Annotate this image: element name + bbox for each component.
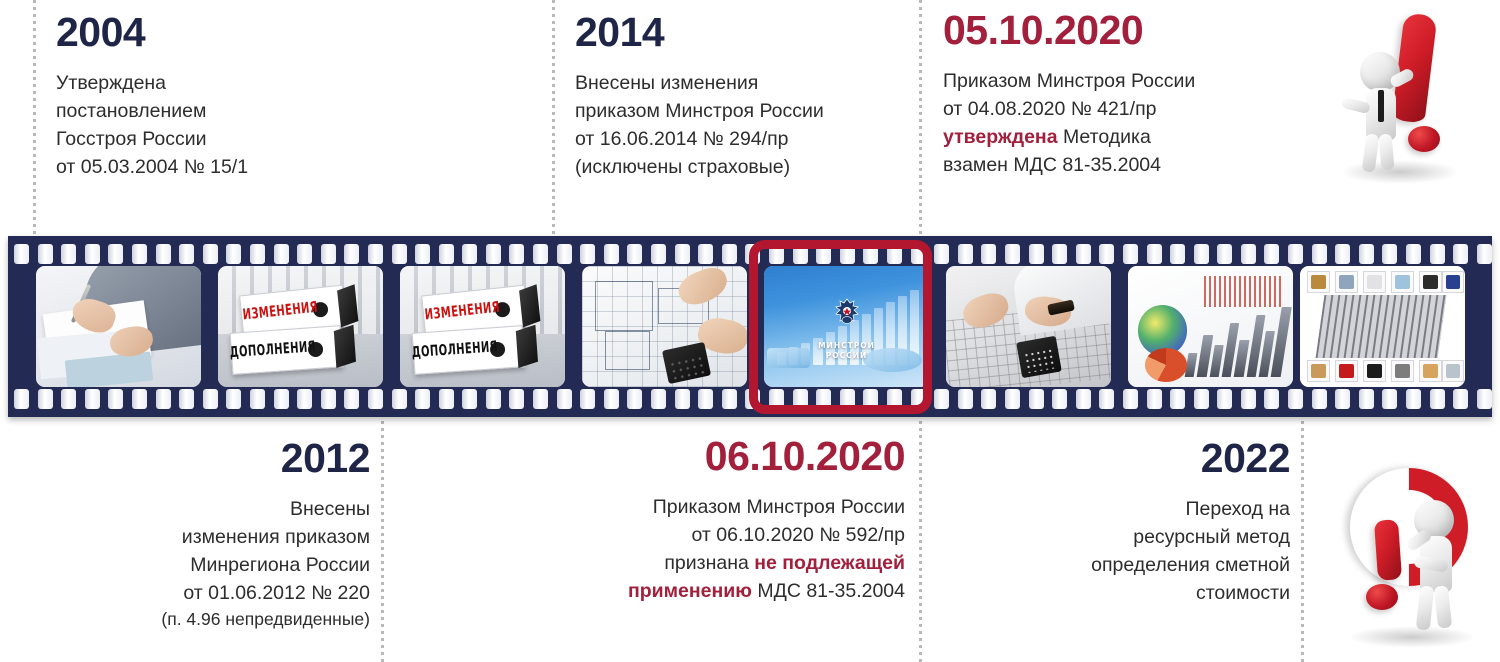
sprocket-hole-icon [863,244,878,264]
sprocket-hole-icon [887,244,902,264]
sprocket-hole-icon [226,389,241,409]
sprocket-hole-icon [1029,244,1044,264]
sprocket-hole-icon [1005,389,1020,409]
year-label-2004: 2004 [56,12,526,53]
entry-body-06-10-2020: Приказом Минстроя России от 06.10.2020 №… [555,493,905,605]
sprocket-hole-icon [1147,389,1162,409]
highlight-primeneniyu: применению [628,580,752,602]
question-hook-icon [1326,444,1493,611]
timeline-entry-06-10-2020: 06.10.2020 Приказом Минстроя России от 0… [555,436,905,605]
date-label-05-10-2020: 05.10.2020 [943,10,1293,51]
sprocket-hole-icon [1052,244,1067,264]
filmstrip-frame-analytics[interactable] [1128,266,1293,387]
sprocket-hole-icon [604,244,619,264]
filmstrip-frame-binders-1[interactable]: ИЗМЕНЕНИЯ ДОПОЛНЕНИЯ [218,266,383,387]
entry-line: (исключены страховые) [575,153,910,181]
sprocket-hole-icon [321,244,336,264]
sprocket-hole-icon [1123,244,1138,264]
sprocket-hole-icon [1029,389,1044,409]
sprocket-hole-icon [203,389,218,409]
timeline-infographic: 2004 Утверждена постановлением Госстроя … [0,0,1500,662]
figure-leg-right [1434,585,1452,628]
year-label-2022: 2022 [1000,438,1290,479]
sprocket-hole-icon [38,244,53,264]
entry-line: стоимости [1000,579,1290,607]
sprocket-hole-icon [392,244,407,264]
sprocket-hole-icon [1241,244,1256,264]
sprocket-hole-icon [911,244,926,264]
entry-line: постановлением [56,97,526,125]
entry-body-2014: Внесены изменения приказом Минстроя Росс… [575,69,910,181]
figure-question [1330,462,1500,658]
sprocket-hole-icon [250,389,265,409]
filmstrip-frame-estimator[interactable] [946,266,1111,387]
photo-binders: ИЗМЕНЕНИЯ ДОПОЛНЕНИЯ [400,266,565,387]
sprocket-hole-icon [1430,389,1445,409]
question-dot-icon [1366,584,1398,610]
date-label-06-10-2020: 06.10.2020 [555,436,905,477]
sprocket-hole-icon [651,244,666,264]
sprocket-hole-icon [981,389,996,409]
entry-body-2012: Внесены изменения приказом Минрегиона Ро… [40,495,370,633]
entry-line: изменения приказом [40,523,370,551]
sprocket-hole-icon [344,244,359,264]
timeline-entry-2012: 2012 Внесены изменения приказом Минрегио… [40,438,370,633]
divider-top-mid [552,0,555,236]
sprocket-hole-icon [38,389,53,409]
entry-line: от 01.06.2012 № 220 [40,579,370,607]
entry-line: Внесены [40,495,370,523]
question-stem-icon [1374,519,1402,581]
sprocket-hole-icon [108,244,123,264]
sprocket-hole-icon [1123,389,1138,409]
sprocket-hole-icon [533,244,548,264]
sprocket-hole-icon [61,389,76,409]
sprocket-hole-icon [675,244,690,264]
sprocket-hole-icon [61,244,76,264]
binder-label-changes: ИЗМЕНЕНИЯ [424,300,501,324]
sprocket-hole-icon [486,244,501,264]
sprocket-hole-icon [1430,244,1445,264]
sprocket-hole-icon [627,244,642,264]
divider-top-right [919,0,922,236]
sprocket-hole-icon [1335,389,1350,409]
sprocket-hole-icon [1382,244,1397,264]
entry-line: приказом Минстроя России [575,97,910,125]
sprocket-hole-icon [1147,244,1162,264]
sprocket-hole-icon [1005,244,1020,264]
sprocket-hole-icon [1217,244,1232,264]
sprocket-hole-icon [344,389,359,409]
binder-bottom: ДОПОЛНЕНИЯ [230,325,344,375]
sprocket-hole-icon [1477,244,1492,264]
sprocket-hole-icon [156,389,171,409]
sprocket-hole-icon [462,244,477,264]
divider-top-left [33,0,36,236]
figure-leg-left [1416,585,1435,630]
entry-line: от 05.03.2004 № 15/1 [56,153,526,181]
timeline-entry-2022: 2022 Переход на ресурсный метод определе… [1000,438,1290,607]
sprocket-hole-icon [745,389,760,409]
sprocket-hole-icon [85,389,100,409]
sprocket-hole-icon [1382,389,1397,409]
sprocket-hole-icon [651,389,666,409]
sprocket-hole-icon [1312,244,1327,264]
figure-shadow [1348,626,1476,648]
sprocket-hole-icon [580,244,595,264]
sprocket-hole-icon [1241,389,1256,409]
sprocket-hole-icon [958,244,973,264]
sprocket-hole-icon [769,244,784,264]
sprocket-hole-icon [1076,244,1091,264]
photo-blueprints [582,266,747,387]
divider-bottom-mid [919,421,922,662]
entry-line: Минрегиона России [40,551,370,579]
filmstrip-band: ИЗМЕНЕНИЯ ДОПОЛНЕНИЯ ИЗМЕНЕНИЯ [8,236,1492,417]
entry-body-2004: Утверждена постановлением Госстроя Росси… [56,69,526,181]
year-label-2012: 2012 [40,438,370,479]
sprocket-hole-icon [132,389,147,409]
sprocket-hole-icon [1477,389,1492,409]
entry-line: утверждена Методика [943,123,1293,151]
binder-bottom: ДОПОЛНЕНИЯ [412,325,526,375]
sprocket-hole-icon [675,389,690,409]
entry-body-05-10-2020: Приказом Минстроя России от 04.08.2020 №… [943,67,1293,179]
sprocket-hole-icon [1406,389,1421,409]
sprocket-hole-icon [274,244,289,264]
timeline-entry-2014: 2014 Внесены изменения приказом Минстроя… [575,12,910,181]
sprocket-hole-icon [1076,389,1091,409]
sprocket-hole-icon [533,389,548,409]
sprocket-hole-icon [580,389,595,409]
sprocket-hole-icon [769,389,784,409]
sprocket-hole-icon [1406,244,1421,264]
sprocket-hole-icon [132,244,147,264]
entry-line: Госстроя России [56,125,526,153]
entry-line: от 16.06.2014 № 294/пр [575,125,910,153]
emblem-caption-line1: МИНСТРОЙ [764,341,929,351]
sprocket-hole-icon [1170,244,1185,264]
entry-body-2022: Переход на ресурсный метод определения с… [1000,495,1290,607]
filmstrip-frame-blueprints[interactable] [582,266,747,387]
exclamation-dot-icon [1408,126,1440,152]
entry-line: признана не подлежащей [555,549,905,577]
sprocket-hole-icon [274,389,289,409]
sprocket-hole-icon [392,389,407,409]
sprocket-hole-icon [14,389,29,409]
entry-line-note: (п. 4.96 непредвиденные) [40,607,370,632]
sprocket-hole-icon [911,389,926,409]
sprocket-hole-icon [179,244,194,264]
sprocket-hole-icon [439,389,454,409]
emblem-caption: МИНСТРОЙ РОССИИ [764,341,929,361]
sprocket-hole-icon [415,389,430,409]
year-label-2014: 2014 [575,12,910,53]
timeline-entry-2004: 2004 Утверждена постановлением Госстроя … [56,12,526,181]
sprocket-hole-icon [1288,389,1303,409]
sprocket-hole-icon [1453,389,1468,409]
sprocket-hole-icon [1288,244,1303,264]
double-headed-eagle-emblem-icon [832,297,862,331]
entry-line-suffix: Методика [1058,126,1151,148]
sprocket-hole-icon [1052,389,1067,409]
photo-bim-model [1300,266,1465,387]
sprocket-hole-icon [816,244,831,264]
sprocket-hole-icon [1194,244,1209,264]
sprocket-hole-icon [486,389,501,409]
sprocket-hole-icon [179,389,194,409]
photo-minstroy-slide: МИНСТРОЙ РОССИИ [764,266,929,387]
entry-line: от 06.10.2020 № 592/пр [555,521,905,549]
sprocket-hole-icon [745,244,760,264]
divider-bottom-right [1301,421,1304,662]
photo-signing [36,266,201,387]
entry-line: взамен МДС 81-35.2004 [943,151,1293,179]
sprocket-hole-icon [509,389,524,409]
timeline-entry-05-10-2020: 05.10.2020 Приказом Минстроя России от 0… [943,10,1293,179]
sprocket-hole-icon [297,244,312,264]
sprocket-hole-icon [1359,389,1374,409]
sprocket-hole-icon [958,389,973,409]
sprocket-hole-icon [840,244,855,264]
highlight-utverzhdena: утверждена [943,126,1058,148]
sprocket-hole-icon [415,244,430,264]
figure-exclamation [1316,4,1488,194]
figure-shadow [1340,160,1460,184]
sprocket-hole-icon [557,389,572,409]
sprocket-row-bottom [8,386,1492,412]
sprocket-hole-icon [321,389,336,409]
sprocket-hole-icon [863,389,878,409]
sprocket-hole-icon [368,244,383,264]
sprocket-hole-icon [1099,389,1114,409]
photo-binders: ИЗМЕНЕНИЯ ДОПОЛНЕНИЯ [218,266,383,387]
entry-line: Переход на [1000,495,1290,523]
entry-line-prefix: признана [664,552,754,574]
sprocket-hole-icon [1217,389,1232,409]
sprocket-hole-icon [1335,244,1350,264]
sprocket-hole-icon [627,389,642,409]
sprocket-hole-icon [698,389,713,409]
sprocket-hole-icon [840,389,855,409]
entry-line: Приказом Минстроя России [555,493,905,521]
sprocket-hole-icon [368,389,383,409]
sprocket-hole-icon [226,244,241,264]
sprocket-hole-icon [1264,244,1279,264]
sprocket-hole-icon [156,244,171,264]
sprocket-hole-icon [203,244,218,264]
filmstrip-frames: ИЗМЕНЕНИЯ ДОПОЛНЕНИЯ ИЗМЕНЕНИЯ [8,266,1492,387]
sprocket-hole-icon [698,244,713,264]
analytics-3d-bars [1184,297,1292,377]
binder-label-additions: ДОПОЛНЕНИЯ [411,339,498,361]
sprocket-hole-icon [1099,244,1114,264]
sprocket-hole-icon [509,244,524,264]
entry-line: ресурсный метод [1000,523,1290,551]
sprocket-hole-icon [14,244,29,264]
filmstrip-frame-bim-model[interactable] [1300,266,1465,387]
sprocket-hole-icon [557,244,572,264]
entry-line: применению МДС 81-35.2004 [555,577,905,605]
sprocket-hole-icon [1264,389,1279,409]
figure-tie [1378,90,1384,122]
binder-label-changes: ИЗМЕНЕНИЯ [242,300,319,324]
emblem-caption-line2: РОССИИ [764,351,929,361]
highlight-ne-podlezhashchey: не подлежащей [754,552,905,574]
sprocket-hole-icon [250,244,265,264]
sprocket-hole-icon [1194,389,1209,409]
sprocket-hole-icon [934,389,949,409]
sprocket-hole-icon [462,389,477,409]
filmstrip-frame-minstroy[interactable]: МИНСТРОЙ РОССИИ [764,266,929,387]
sprocket-hole-icon [1359,244,1374,264]
entry-line-suffix: МДС 81-35.2004 [752,580,905,602]
sprocket-hole-icon [604,389,619,409]
sprocket-hole-icon [816,389,831,409]
sprocket-hole-icon [934,244,949,264]
sprocket-hole-icon [887,389,902,409]
filmstrip-frame-signing-1[interactable] [36,266,201,387]
sprocket-hole-icon [85,244,100,264]
entry-line: Внесены изменения [575,69,910,97]
sprocket-hole-icon [439,244,454,264]
entry-line: Утверждена [56,69,526,97]
sprocket-hole-icon [793,244,808,264]
photo-analytics [1128,266,1293,387]
sprocket-hole-icon [981,244,996,264]
sprocket-hole-icon [722,389,737,409]
binder-label-additions: ДОПОЛНЕНИЯ [229,339,316,361]
entry-line: от 04.08.2020 № 421/пр [943,95,1293,123]
sprocket-hole-icon [793,389,808,409]
filmstrip-frame-binders-2[interactable]: ИЗМЕНЕНИЯ ДОПОЛНЕНИЯ [400,266,565,387]
sprocket-hole-icon [1170,389,1185,409]
sprocket-hole-icon [1312,389,1327,409]
entry-line: определения сметной [1000,551,1290,579]
sprocket-hole-icon [1453,244,1468,264]
sprocket-hole-icon [297,389,312,409]
entry-line: Приказом Минстроя России [943,67,1293,95]
sprocket-hole-icon [722,244,737,264]
divider-bottom-left [381,421,384,662]
sprocket-row-top [8,241,1492,267]
photo-estimator [946,266,1111,387]
sprocket-hole-icon [108,389,123,409]
